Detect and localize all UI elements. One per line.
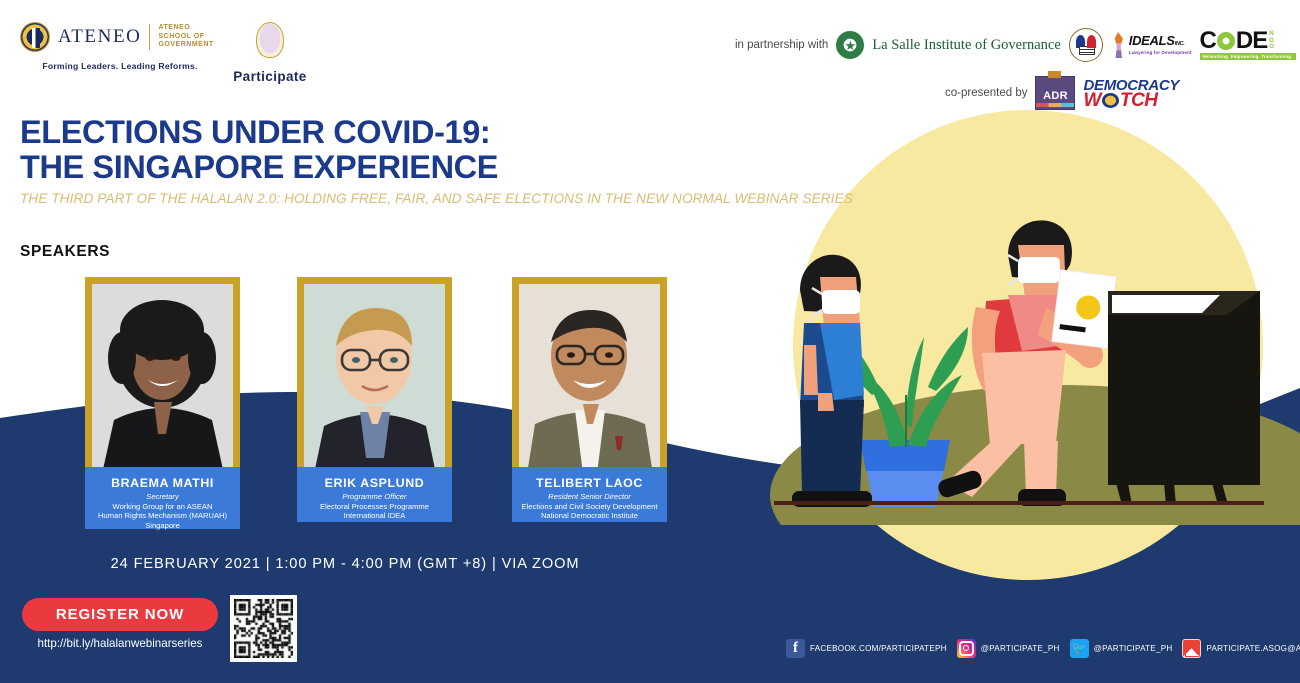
gmail-icon <box>1182 639 1201 658</box>
speaker-photo-frame <box>297 277 452 481</box>
facebook-icon: f <box>786 639 805 658</box>
voting-illustration <box>760 195 1300 525</box>
ideals-suffix: INC. <box>1175 41 1185 47</box>
code-sun-icon <box>1217 32 1235 50</box>
twitter-handle: @PARTICIPATE_PH <box>1094 644 1173 653</box>
speaker-org-line-1: Elections and Civil Society Development <box>516 502 663 512</box>
speakers-heading: SPEAKERS <box>20 243 110 261</box>
code-letter-c: C <box>1200 30 1216 52</box>
ateneo-sub-line2: SCHOOL OF <box>158 33 213 42</box>
copresented-label: co-presented by <box>945 87 1027 99</box>
participate-logo-block: Participate <box>215 22 325 84</box>
maruah-logo-icon <box>1069 28 1103 62</box>
masked-person-waiting <box>792 255 872 507</box>
instagram-handle: @PARTICIPATE_PH <box>981 644 1060 653</box>
watch-word-part1: W <box>1083 93 1100 108</box>
social-item-twitter[interactable]: 🐦 @PARTICIPATE_PH <box>1070 639 1173 658</box>
avatar <box>519 284 660 474</box>
title-line-2: THE SINGAPORE EXPERIENCE <box>20 150 498 185</box>
speaker-nameplate: BRAEMA MATHI Secretary Working Group for… <box>85 467 240 529</box>
speaker-role: Programme Officer <box>301 492 448 502</box>
speaker-org-line-2: National Democratic Institute <box>516 511 663 521</box>
partner-logo-row: in partnership with La Salle Institute o… <box>735 28 1296 62</box>
ateneo-sub-line3: GOVERNMENT <box>158 41 213 50</box>
la-salle-wordmark: La Salle Institute of Governance <box>872 37 1060 54</box>
ballot-paper <box>1052 270 1116 348</box>
ideals-tagline: Lawyering for Development <box>1129 50 1192 55</box>
watch-eye-icon <box>1102 93 1119 108</box>
speaker-role: Secretary <box>89 492 236 502</box>
divider <box>149 24 150 50</box>
speaker-org-line-1: Electoral Processes Programme <box>301 502 448 512</box>
ideals-logo-icon: IDEALSINC. Lawyering for Development <box>1111 32 1192 58</box>
title-line-1: ELECTIONS UNDER COVID-19: <box>20 115 498 150</box>
speaker-photo-frame <box>85 277 240 481</box>
avatar <box>304 284 445 474</box>
register-now-button[interactable]: REGISTER NOW <box>22 598 218 631</box>
ateneo-seal-icon <box>20 22 50 52</box>
speaker-card: ERIK ASPLUND Programme Officer Electoral… <box>297 277 452 481</box>
event-details-line: 24 FEBRUARY 2021 | 1:00 PM - 4:00 PM (GM… <box>0 556 690 572</box>
adr-logo-icon: ADR <box>1035 76 1075 110</box>
partnership-label: in partnership with <box>735 39 828 51</box>
social-item-facebook[interactable]: f FACEBOOK.COM/PARTICIPATEPH <box>786 639 947 658</box>
code-ngo-logo-icon: C DE NGO Networking. Empowering. Transfo… <box>1200 30 1296 60</box>
page-title: ELECTIONS UNDER COVID-19: THE SINGAPORE … <box>20 115 498 185</box>
avatar <box>92 284 233 474</box>
speaker-org-line-2: Human Rights Mechanism (MARUAH) <box>89 511 236 521</box>
speaker-name: BRAEMA MATHI <box>89 476 236 491</box>
page-subtitle: THE THIRD PART OF THE HALALAN 2.0: HOLDI… <box>20 190 853 208</box>
social-item-email[interactable]: PARTICIPATE.ASOG@ATENEO.EDU <box>1182 639 1300 658</box>
speaker-role: Resident Senior Director <box>516 492 663 502</box>
speaker-org-line-1: Working Group for an ASEAN <box>89 502 236 512</box>
ateneo-tagline: Forming Leaders. Leading Reforms. <box>20 61 220 71</box>
speaker-name: ERIK ASPLUND <box>301 476 448 491</box>
code-ngo-text: NGO <box>1269 31 1273 50</box>
ateneo-logo-block: ATENEO ATENEO SCHOOL OF GOVERNMENT Formi… <box>20 22 220 71</box>
democracy-watch-logo-icon: DEMOCRACY W TCH <box>1083 78 1179 108</box>
social-media-footer: f FACEBOOK.COM/PARTICIPATEPH @PARTICIPAT… <box>786 637 1300 659</box>
code-tagline-bar: Networking. Empowering. Transforming. <box>1200 53 1296 60</box>
watch-word-part2: TCH <box>1120 93 1158 108</box>
twitter-icon: 🐦 <box>1070 639 1089 658</box>
adr-wordmark: ADR <box>1043 90 1068 102</box>
instagram-icon <box>957 639 976 658</box>
ideals-wordmark: IDEALS <box>1129 33 1175 48</box>
speaker-card: TELIBERT LAOC Resident Senior Director E… <box>512 277 667 481</box>
speaker-nameplate: ERIK ASPLUND Programme Officer Electoral… <box>297 467 452 522</box>
speaker-org-line-3: Singapore <box>89 521 236 531</box>
copresenter-row: co-presented by ADR DEMOCRACY W TCH <box>945 76 1179 110</box>
register-url-link[interactable]: http://bit.ly/halalanwebinarseries <box>22 637 218 650</box>
qr-code-icon[interactable] <box>230 595 297 662</box>
speaker-org-line-2: International IDEA <box>301 511 448 521</box>
code-letters-de: DE <box>1236 30 1267 52</box>
speaker-photo-frame <box>512 277 667 481</box>
ateneo-sub-line1: ATENEO <box>158 24 213 33</box>
ballot-box <box>1108 291 1260 505</box>
ateneo-wordmark: ATENEO <box>58 26 141 48</box>
speaker-card: BRAEMA MATHI Secretary Working Group for… <box>85 277 240 481</box>
speaker-nameplate: TELIBERT LAOC Resident Senior Director E… <box>512 467 667 522</box>
facebook-handle: FACEBOOK.COM/PARTICIPATEPH <box>810 644 947 653</box>
la-salle-seal-icon <box>836 31 864 59</box>
email-handle: PARTICIPATE.ASOG@ATENEO.EDU <box>1206 644 1300 653</box>
participate-wordmark: Participate <box>215 69 325 84</box>
webinar-poster: ATENEO ATENEO SCHOOL OF GOVERNMENT Formi… <box>0 0 1300 683</box>
ideals-torch-icon <box>1111 32 1127 58</box>
social-item-instagram[interactable]: @PARTICIPATE_PH <box>957 639 1060 658</box>
speaker-name: TELIBERT LAOC <box>516 476 663 491</box>
participate-seal-icon <box>256 22 284 58</box>
